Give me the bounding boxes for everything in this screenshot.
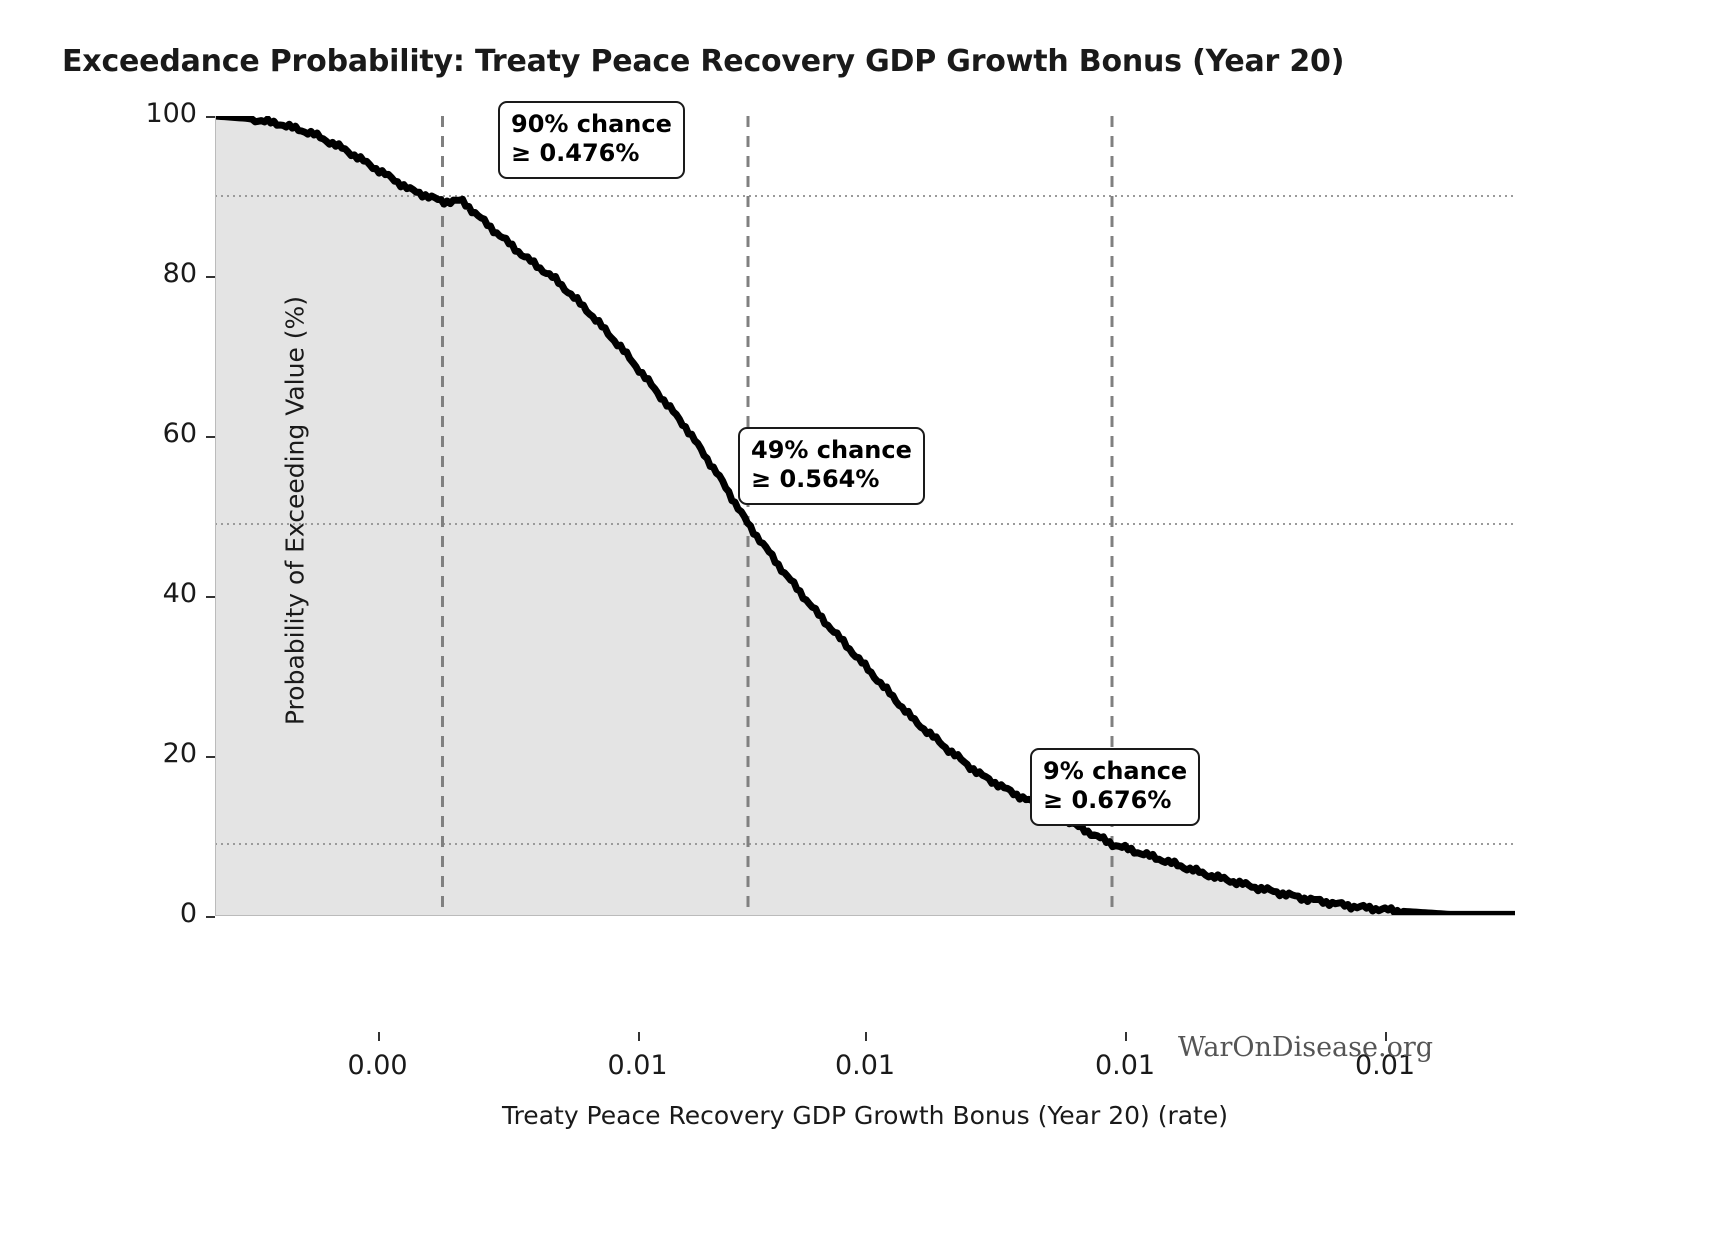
x-axis-label: Treaty Peace Recovery GDP Growth Bonus (… (215, 1101, 1515, 1130)
y-tick-mark (206, 596, 215, 598)
y-tick-label: 20 (163, 738, 197, 769)
annotation-chance-line: 49% chance (751, 436, 912, 465)
y-axis-label: Probability of Exceeding Value (%) (281, 251, 310, 771)
annotation-value-line: ≥ 0.676% (1043, 786, 1187, 815)
x-tick-label: 0.00 (347, 1050, 407, 1081)
annotation-p49: 49% chance≥ 0.564% (738, 427, 925, 505)
y-tick-mark (206, 436, 215, 438)
y-tick-mark (206, 916, 215, 918)
exceedance-area-fill (215, 116, 1450, 916)
annotation-p9: 9% chance≥ 0.676% (1030, 748, 1200, 826)
annotation-chance-line: 90% chance (511, 110, 672, 139)
x-tick-mark (865, 1032, 867, 1041)
x-tick-label: 0.01 (607, 1050, 667, 1081)
x-tick-label: 0.01 (1095, 1050, 1155, 1081)
y-tick-label: 40 (163, 578, 197, 609)
watermark: WarOnDisease.org (1178, 1032, 1433, 1063)
y-tick-mark (206, 276, 215, 278)
annotation-value-line: ≥ 0.476% (511, 139, 672, 168)
exceedance-curve-svg (215, 116, 1515, 916)
chart-page: Exceedance Probability: Treaty Peace Rec… (0, 0, 1730, 1234)
annotation-value-line: ≥ 0.564% (751, 465, 912, 494)
page-title: Exceedance Probability: Treaty Peace Rec… (62, 44, 1344, 79)
y-tick-label: 60 (163, 418, 197, 449)
y-tick-mark (206, 116, 215, 118)
annotation-p90: 90% chance≥ 0.476% (498, 101, 685, 179)
annotation-chance-line: 9% chance (1043, 757, 1187, 786)
x-tick-mark (638, 1032, 640, 1041)
x-tick-mark (378, 1032, 380, 1041)
y-tick-mark (206, 756, 215, 758)
y-tick-label: 0 (180, 898, 197, 929)
x-tick-mark (1125, 1032, 1127, 1041)
y-tick-label: 80 (163, 258, 197, 289)
plot-area: Probability of Exceeding Value (%) Treat… (215, 116, 1515, 916)
x-tick-label: 0.01 (835, 1050, 895, 1081)
y-tick-label: 100 (145, 98, 197, 129)
